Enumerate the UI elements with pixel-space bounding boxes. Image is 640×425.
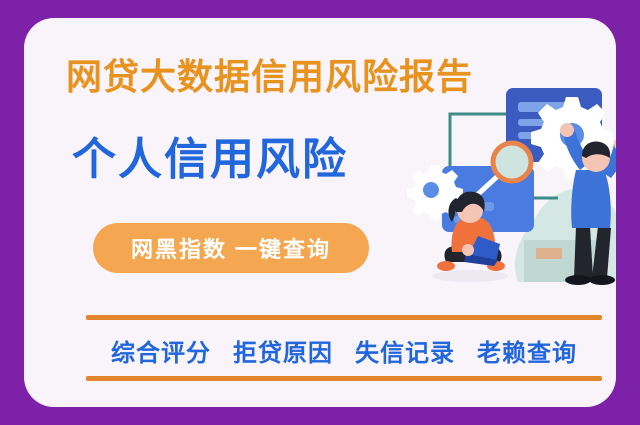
footer-link-score[interactable]: 综合评分: [111, 333, 211, 368]
subtitle: 个人信用风险: [72, 138, 348, 182]
man-hoodie: [571, 170, 611, 228]
man-shoe-left: [565, 275, 591, 285]
man-hand-left: [560, 123, 574, 137]
mint-box-tag: [536, 248, 562, 259]
footer-link-rejection-reason[interactable]: 拒贷原因: [233, 333, 333, 368]
footer-link-defaulter-query[interactable]: 老赖查询: [477, 333, 577, 368]
woman-hand: [462, 244, 474, 256]
footer-links: 综合评分 拒贷原因 失信记录 老赖查询: [86, 330, 602, 370]
promo-banner: 网贷大数据信用风险报告 个人信用风险 网黑指数 一键查询 综合评分 拒贷原因 失…: [0, 0, 640, 425]
magnifier-lens: [493, 143, 531, 181]
man-leg-left: [574, 226, 593, 278]
banner-card: 网贷大数据信用风险报告 个人信用风险 网黑指数 一键查询 综合评分 拒贷原因 失…: [24, 18, 616, 407]
divider-top: [86, 315, 602, 320]
woman-shadow: [432, 270, 508, 282]
page-title: 网贷大数据信用风险报告: [66, 59, 473, 95]
connector-line-top: [450, 114, 506, 134]
footer-link-dishonesty-record[interactable]: 失信记录: [355, 333, 455, 368]
woman-foot-left: [437, 261, 455, 271]
query-button[interactable]: 网黑指数 一键查询: [93, 223, 369, 273]
credit-report-illustration: [406, 70, 616, 305]
divider-bottom: [86, 376, 602, 381]
man-shoe-right: [589, 275, 615, 285]
